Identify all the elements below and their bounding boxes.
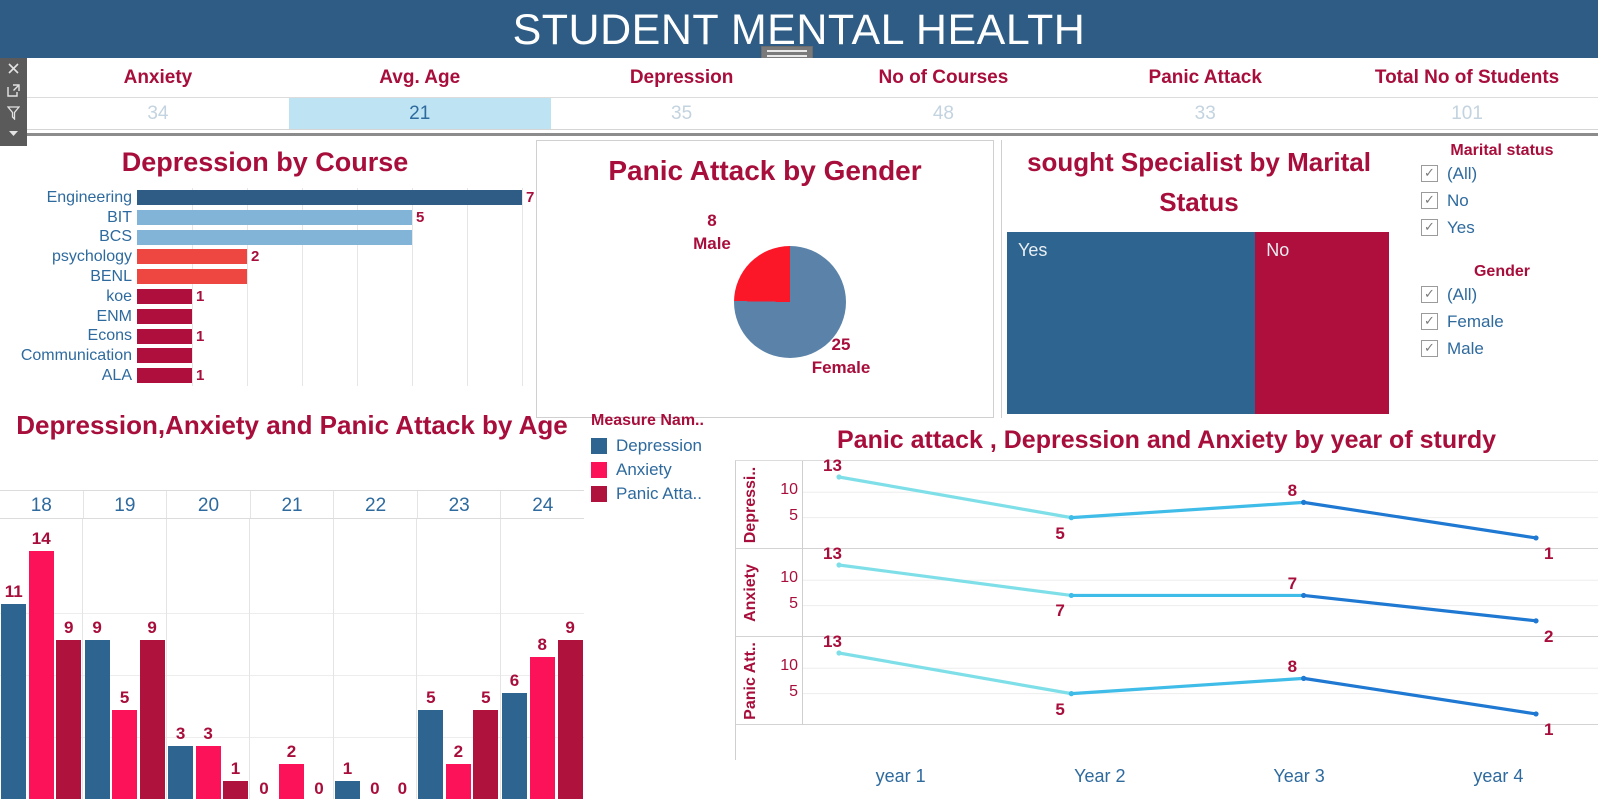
bar-segment[interactable] [137, 289, 192, 304]
data-label: 7 [1055, 601, 1064, 621]
filter-option-label: (All) [1447, 164, 1477, 184]
panel-axis-label: Depressi.. [738, 461, 764, 549]
bar-category-label: BENL [0, 268, 137, 286]
bar-rows: Engineering7BIT5BCSpsychology2BENLkoe1EN… [0, 188, 522, 386]
kpi-value-1[interactable]: 21 [289, 98, 551, 129]
line-panel-2: Panic Att..10513581 [736, 637, 1598, 725]
bar-value-label: 1 [223, 759, 248, 779]
filter-option-0-0[interactable]: (All) [1406, 160, 1598, 187]
year-tick: Year 2 [1000, 760, 1199, 792]
bar-track [137, 307, 522, 327]
bar-fill [196, 746, 221, 799]
bar-fill [223, 781, 248, 799]
panic-depression-anxiety-by-year-chart: Panic attack , Depression and Anxiety by… [735, 418, 1598, 799]
bar-value-label: 1 [335, 759, 360, 779]
bar-anxiety[interactable]: 2 [446, 764, 471, 799]
checkbox-icon[interactable] [1421, 313, 1438, 330]
filter-option-1-1[interactable]: Female [1406, 308, 1598, 335]
legend-swatch [591, 438, 607, 454]
data-label: 5 [1055, 700, 1064, 720]
bar-value-label: 6 [502, 671, 527, 691]
bar-track: 1 [137, 366, 522, 386]
bar-track: 7 [137, 188, 522, 208]
filter-option-label: Yes [1447, 218, 1475, 238]
bar-row: psychology2 [0, 247, 522, 267]
line-series [803, 637, 1598, 725]
bar-category-label: BIT [0, 209, 137, 227]
y-tick-10: 10 [780, 481, 798, 499]
sought-specialist-treemap: sought Specialist by Marital Status YesN… [1001, 140, 1396, 418]
age-tick-19: 19 [84, 491, 168, 518]
bar-fill [140, 640, 165, 799]
bar-segment[interactable] [137, 348, 192, 363]
treemap-tile-yes[interactable]: Yes [1007, 232, 1255, 414]
legend-swatch [591, 462, 607, 478]
window-titlebar: STUDENT MENTAL HEALTH [0, 0, 1598, 62]
age-group-22: 100 [334, 519, 417, 799]
filter-option-1-2[interactable]: Male [1406, 335, 1598, 362]
panic-attack-by-gender-chart: Panic Attack by Gender 8 Male 25 Female [536, 140, 994, 418]
bar-category-label: Econs [0, 327, 137, 345]
bar-track: 1 [137, 327, 522, 347]
bar-fill [168, 746, 193, 799]
checkbox-icon[interactable] [1421, 165, 1438, 182]
checkbox-icon[interactable] [1421, 192, 1438, 209]
chart-plot-area: Engineering7BIT5BCSpsychology2BENLkoe1EN… [0, 188, 522, 386]
bar-category-label: ENM [0, 308, 137, 326]
bar-value-label: 2 [446, 742, 471, 762]
bar-value-label: 0 [252, 779, 277, 799]
age-group-21: 020 [250, 519, 333, 799]
bar-value-label: 0 [390, 779, 415, 799]
bar-segment[interactable] [137, 309, 192, 324]
bar-value-label: 5 [418, 688, 443, 708]
bar-category-label: koe [0, 288, 137, 306]
treemap-tile-no[interactable]: No [1255, 232, 1389, 414]
data-label: 7 [1288, 574, 1297, 594]
bar-value-label: 5 [112, 688, 137, 708]
kpi-value-3[interactable]: 48 [812, 98, 1074, 129]
panel-axis-label-text: Anxiety [742, 564, 760, 622]
panel-axis-label: Anxiety [738, 549, 764, 637]
y-tick-5: 5 [789, 507, 798, 525]
pie-label-male: 8 Male [670, 209, 754, 255]
bar-anxiety[interactable]: 5 [112, 710, 137, 799]
bar-segment[interactable] [137, 269, 247, 284]
y-tick-5: 5 [789, 683, 798, 701]
chart-title: sought Specialist by Marital Status [1002, 142, 1396, 222]
bar-row: ALA1 [0, 366, 522, 386]
filter-group-title-1: Gender [1406, 263, 1598, 281]
checkbox-icon[interactable] [1421, 219, 1438, 236]
bar-fill [502, 693, 527, 799]
treemap-tiles: YesNo [1007, 232, 1389, 414]
panel-axis-label: Panic Att.. [738, 637, 764, 725]
filter-option-label: No [1447, 191, 1469, 211]
age-group-18: 11149 [0, 519, 83, 799]
pie-name-female: Female [789, 356, 893, 379]
bar-value-label: 8 [530, 635, 555, 655]
bar-panic-attack[interactable]: 9 [558, 640, 583, 799]
bar-value-label: 5 [473, 688, 498, 708]
bar-value-label: 5 [416, 209, 424, 226]
bar-panic-attack[interactable]: 5 [473, 710, 498, 799]
kpi-strip: AnxietyAvg. AgeDepressionNo of CoursesPa… [27, 58, 1598, 136]
year-tick: year 1 [801, 760, 1000, 792]
year-axis: year 1Year 2Year 3year 4 [801, 760, 1598, 792]
legend-item-label: Anxiety [616, 460, 672, 480]
panel-axis-label-text: Depressi.. [742, 467, 760, 543]
bar-value-label: 0 [306, 779, 331, 799]
bar-row: BIT5 [0, 208, 522, 228]
bar-anxiety[interactable]: 8 [530, 657, 555, 799]
left-icon-rail [0, 58, 27, 146]
age-tick-24: 24 [501, 491, 584, 518]
bar-depression[interactable]: 6 [502, 693, 527, 799]
bar-fill [558, 640, 583, 799]
legend-title: Measure Nam.. [591, 412, 731, 430]
bar-value-label: 2 [251, 248, 259, 265]
bar-row: BCS [0, 228, 522, 248]
filter-icon[interactable] [0, 102, 27, 124]
expand-icon[interactable] [0, 80, 27, 102]
bar-track [137, 346, 522, 366]
bar-category-label: Communication [0, 347, 137, 365]
bar-category-label: BCS [0, 228, 137, 246]
bar-depression[interactable]: 11 [1, 604, 26, 799]
kpi-label-4: Panic Attack [1074, 58, 1336, 97]
year-tick: year 4 [1399, 760, 1598, 792]
bar-fill [112, 710, 137, 799]
legend-item-label: Panic Atta.. [616, 484, 702, 504]
data-label: 8 [1288, 657, 1297, 677]
bar-segment[interactable] [137, 329, 192, 344]
age-group-23: 525 [417, 519, 500, 799]
chart-title: Panic attack , Depression and Anxiety by… [735, 422, 1598, 458]
filter-option-label: Female [1447, 312, 1504, 332]
kpi-label-0: Anxiety [27, 58, 289, 97]
bar-track [137, 228, 522, 248]
kpi-value-row: 3421354833101 [27, 98, 1598, 130]
y-tick-5: 5 [789, 595, 798, 613]
legend-item-0[interactable]: Depression [591, 434, 731, 458]
filter-option-0-2[interactable]: Yes [1406, 214, 1598, 241]
checkbox-icon[interactable] [1421, 340, 1438, 357]
kpi-value-2[interactable]: 35 [551, 98, 813, 129]
depression-by-course-chart: Depression by Course Engineering7BIT5BCS… [0, 140, 530, 398]
bar-category-label: Engineering [0, 189, 137, 207]
filter-option-1-0[interactable]: (All) [1406, 281, 1598, 308]
bar-row: ENM [0, 307, 522, 327]
age-tick-23: 23 [418, 491, 502, 518]
bar-row: koe1 [0, 287, 522, 307]
age-axis: 18192021222324 [0, 490, 584, 519]
bar-fill [418, 710, 443, 799]
legend-item-1[interactable]: Anxiety [591, 458, 731, 482]
treemap-tile-label: No [1266, 240, 1289, 261]
panel-y-ticks: 105 [764, 461, 800, 549]
bar-fill [85, 640, 110, 799]
bar-fill [1, 604, 26, 799]
bar-fill [446, 764, 471, 799]
treemap-tile-label: Yes [1018, 240, 1047, 261]
checkbox-icon[interactable] [1421, 286, 1438, 303]
bar-segment[interactable] [137, 230, 412, 245]
bar-row: BENL [0, 267, 522, 287]
bar-value-label: 11 [1, 582, 26, 602]
panel-plot-area: 13581 [802, 637, 1598, 725]
age-tick-21: 21 [251, 491, 335, 518]
legend-swatch [591, 486, 607, 502]
bar-track: 5 [137, 208, 522, 228]
bar-value-label: 2 [279, 742, 304, 762]
bar-depression[interactable]: 1 [335, 781, 360, 799]
bar-value-label: 9 [140, 618, 165, 638]
bar-row: Engineering7 [0, 188, 522, 208]
bar-fill [56, 640, 81, 799]
filter-option-label: (All) [1447, 285, 1477, 305]
line-series [803, 461, 1598, 549]
line-panel-0: Depressi..10513581 [736, 461, 1598, 549]
age-tick-20: 20 [167, 491, 251, 518]
panel-y-ticks: 105 [764, 637, 800, 725]
bar-fill [279, 764, 304, 799]
line-series [803, 549, 1598, 637]
chart-title: Depression,Anxiety and Panic Attack by A… [0, 404, 584, 445]
age-tick-22: 22 [334, 491, 418, 518]
data-label: 1 [1544, 720, 1553, 740]
bar-value-label: 14 [29, 529, 54, 549]
kpi-value-4[interactable]: 33 [1074, 98, 1336, 129]
panel-plot-area: 13772 [802, 549, 1598, 637]
y-tick-10: 10 [780, 569, 798, 587]
close-icon[interactable] [0, 58, 27, 80]
bar-value-label: 0 [362, 779, 387, 799]
bar-category-label: ALA [0, 367, 137, 385]
panel-axis-label-text: Panic Att.. [742, 642, 760, 720]
age-tick-18: 18 [0, 491, 84, 518]
bar-fill [530, 657, 555, 799]
bar-depression[interactable]: 3 [168, 746, 193, 799]
legend-items: DepressionAnxietyPanic Atta.. [591, 434, 731, 506]
bar-anxiety[interactable]: 2 [279, 764, 304, 799]
pie-value-female: 25 [789, 333, 893, 356]
kpi-label-5: Total No of Students [1336, 58, 1598, 97]
panel-y-ticks: 105 [764, 549, 800, 637]
filter-group-title-0: Marital status [1406, 142, 1598, 160]
data-label: 13 [823, 632, 842, 652]
bar-track: 1 [137, 287, 522, 307]
chart-title: Panic Attack by Gender [537, 152, 993, 190]
panel-plot-area: 13581 [802, 461, 1598, 549]
chart-title: Depression by Course [0, 144, 530, 180]
bar-value-label: 9 [56, 618, 81, 638]
kpi-value-0[interactable]: 34 [27, 98, 289, 129]
bar-value-label: 1 [196, 367, 204, 384]
bar-value-label: 1 [196, 328, 204, 345]
bar-value-label: 3 [196, 724, 221, 744]
bar-value-label: 9 [558, 618, 583, 638]
bar-segment[interactable] [137, 368, 192, 383]
bar-row: Econs1 [0, 327, 522, 347]
bar-fill [29, 551, 54, 799]
kpi-value-5[interactable]: 101 [1336, 98, 1598, 129]
bar-category-label: psychology [0, 248, 137, 266]
pie-label-female: 25 Female [789, 333, 893, 379]
kpi-label-2: Depression [551, 58, 813, 97]
kpi-label-3: No of Courses [812, 58, 1074, 97]
bar-track [137, 267, 522, 287]
bar-panic-attack[interactable]: 9 [56, 640, 81, 799]
bar-depression[interactable]: 5 [418, 710, 443, 799]
bar-track: 2 [137, 247, 522, 267]
bar-value-label: 9 [85, 618, 110, 638]
kpi-label-1: Avg. Age [289, 58, 551, 97]
bar-segment[interactable] [137, 249, 247, 264]
filter-option-label: Male [1447, 339, 1484, 359]
line-panels: Depressi..10513581Anxiety10513772Panic A… [735, 460, 1598, 760]
legend-item-2[interactable]: Panic Atta.. [591, 482, 731, 506]
chart-plot-area: 11149959331020100525689 [0, 519, 584, 799]
depression-anxiety-panic-by-age-chart: Depression,Anxiety and Panic Attack by A… [0, 404, 584, 799]
pie-value-male: 8 [670, 209, 754, 232]
data-label: 8 [1288, 481, 1297, 501]
bar-value-label: 3 [168, 724, 193, 744]
bar-panic-attack[interactable]: 9 [140, 640, 165, 799]
legend-item-label: Depression [616, 436, 702, 456]
bar-anxiety[interactable]: 14 [29, 551, 54, 799]
bar-depression[interactable]: 9 [85, 640, 110, 799]
data-label: 13 [823, 456, 842, 476]
line-panel-1: Anxiety10513772 [736, 549, 1598, 637]
bar-value-label: 1 [196, 288, 204, 305]
filter-panel: Marital status(All)NoYesGender(All)Femal… [1406, 142, 1598, 402]
year-tick: Year 3 [1200, 760, 1399, 792]
bar-anxiety[interactable]: 3 [196, 746, 221, 799]
y-tick-10: 10 [780, 657, 798, 675]
bar-row: Communication [0, 346, 522, 366]
bar-panic-attack[interactable]: 1 [223, 781, 248, 799]
bar-segment[interactable] [137, 210, 412, 225]
age-group-20: 331 [167, 519, 250, 799]
kpi-header-row: AnxietyAvg. AgeDepressionNo of CoursesPa… [27, 58, 1598, 98]
age-group-24: 689 [501, 519, 584, 799]
bar-fill [335, 781, 360, 799]
bar-segment[interactable] [137, 190, 522, 205]
filter-option-0-1[interactable]: No [1406, 187, 1598, 214]
age-group-19: 959 [83, 519, 166, 799]
bar-value-label: 7 [526, 189, 534, 206]
data-label: 5 [1055, 524, 1064, 544]
measure-legend: Measure Nam.. DepressionAnxietyPanic Att… [591, 412, 731, 506]
data-label: 13 [823, 544, 842, 564]
pie-name-male: Male [670, 232, 754, 255]
bar-fill [473, 710, 498, 799]
